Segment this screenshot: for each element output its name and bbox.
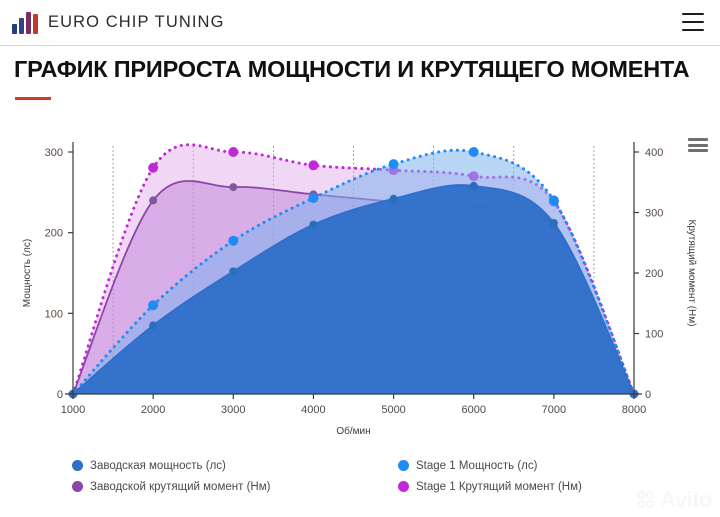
legend-label: Заводской крутящий момент (Нм) bbox=[90, 481, 270, 493]
legend-item-stage1-power[interactable]: Stage 1 Мощность (лс) bbox=[398, 455, 582, 476]
legend-marker-icon bbox=[72, 481, 83, 492]
y-axis-tick-label: 0 bbox=[57, 389, 63, 401]
page-root: EURO CHIP TUNING ГРАФИК ПРИРОСТА МОЩНОСТ… bbox=[0, 0, 720, 517]
site-header: EURO CHIP TUNING bbox=[0, 0, 720, 46]
y2-axis-tick-label: 300 bbox=[645, 208, 663, 220]
legend-item-stock-torque[interactable]: Заводской крутящий момент (Нм) bbox=[72, 476, 270, 497]
legend-item-stock-power[interactable]: Заводская мощность (лс) bbox=[72, 455, 270, 476]
page-title: ГРАФИК ПРИРОСТА МОЩНОСТИ И КРУТЯЩЕГО МОМ… bbox=[14, 56, 689, 83]
data-point bbox=[309, 221, 317, 229]
x-axis-tick-label: 6000 bbox=[461, 404, 485, 416]
x-axis-title: Об/мин bbox=[336, 425, 370, 437]
brand-name: EURO CHIP TUNING bbox=[48, 13, 225, 32]
x-axis-tick-label: 1000 bbox=[61, 404, 85, 416]
y-axis-tick-label: 300 bbox=[45, 147, 63, 159]
data-point bbox=[308, 193, 318, 203]
title-underline-rule bbox=[15, 97, 51, 100]
legend-marker-icon bbox=[72, 460, 83, 471]
data-point bbox=[229, 183, 237, 191]
chart-legend: Заводская мощность (лс) Заводской крутящ… bbox=[0, 455, 720, 501]
legend-item-stage1-torque[interactable]: Stage 1 Крутящий момент (Нм) bbox=[398, 476, 582, 497]
legend-label: Stage 1 Мощность (лс) bbox=[416, 460, 537, 472]
data-point bbox=[550, 219, 558, 227]
data-point bbox=[390, 195, 398, 203]
legend-label: Заводская мощность (лс) bbox=[90, 460, 226, 472]
y-axis-title: Мощность (лс) bbox=[22, 239, 33, 307]
y2-axis-tick-label: 200 bbox=[645, 268, 663, 280]
y-axis-tick-label: 100 bbox=[45, 308, 63, 320]
x-axis-tick-label: 4000 bbox=[301, 404, 325, 416]
x-axis-tick-label: 8000 bbox=[622, 404, 646, 416]
data-point bbox=[308, 160, 318, 170]
data-point bbox=[149, 196, 157, 204]
data-point bbox=[470, 182, 478, 190]
chart-series bbox=[69, 145, 639, 399]
data-point bbox=[148, 300, 158, 310]
legend-marker-icon bbox=[398, 460, 409, 471]
data-point bbox=[149, 321, 157, 329]
y-axis-tick-label: 200 bbox=[45, 228, 63, 240]
data-point bbox=[229, 267, 237, 275]
y2-axis-title: Крутящий момент (Нм) bbox=[686, 220, 697, 327]
brand[interactable]: EURO CHIP TUNING bbox=[12, 12, 225, 34]
data-point bbox=[148, 163, 158, 173]
data-point bbox=[389, 159, 399, 169]
x-axis-tick-label: 3000 bbox=[221, 404, 245, 416]
y2-axis-tick-label: 400 bbox=[645, 147, 663, 159]
x-axis-tick-label: 5000 bbox=[381, 404, 405, 416]
bar-chart-logo-icon bbox=[12, 12, 38, 34]
hamburger-menu-icon[interactable] bbox=[682, 13, 704, 31]
x-axis-tick-label: 7000 bbox=[542, 404, 566, 416]
y2-axis-tick-label: 0 bbox=[645, 389, 651, 401]
data-point bbox=[228, 236, 238, 246]
x-axis-tick-label: 2000 bbox=[141, 404, 165, 416]
legend-marker-icon bbox=[398, 481, 409, 492]
data-point bbox=[469, 147, 479, 157]
data-point bbox=[549, 195, 559, 205]
y2-axis-tick-label: 100 bbox=[645, 329, 663, 341]
power-torque-chart: 0100200300010020030040010002000300040005… bbox=[0, 110, 720, 470]
data-point bbox=[228, 147, 238, 157]
legend-label: Stage 1 Крутящий момент (Нм) bbox=[416, 481, 582, 493]
